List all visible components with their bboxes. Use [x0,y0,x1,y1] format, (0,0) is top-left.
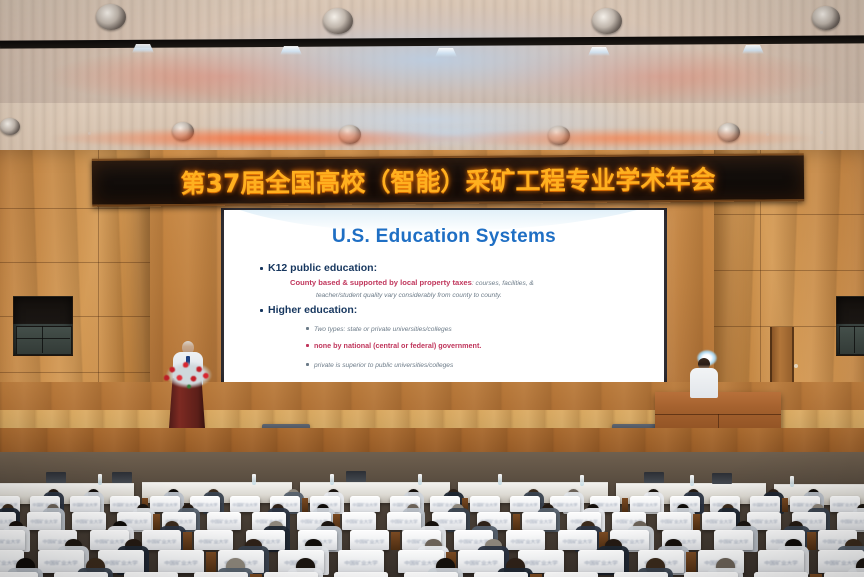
slide-bullet-level3: Two types: state or private universities… [306,323,452,334]
booth-glass [839,326,864,355]
chair-cover-text: 中国矿业大学 [150,503,180,508]
audience-chair[interactable]: 中国矿业大学 [334,572,388,577]
audience-chair[interactable]: 中国矿业大学 [54,572,108,577]
chair-cover-text: 中国矿业大学 [578,559,624,566]
slide-bullet-level2: County based & supported by local proper… [290,278,534,287]
chair-cover-text: 中国矿业大学 [72,519,106,524]
chair-cover-text: 中国矿业大学 [70,503,100,508]
seat-row-gap [686,552,696,573]
moderator-body [690,368,718,398]
chair-cover-text: 中国矿业大学 [750,503,780,508]
ceiling-panel-upper [0,0,864,103]
seat-row-gap [183,532,192,550]
audience-chair[interactable]: 中国矿业大学 [702,512,736,530]
laptop-icon [644,472,664,483]
chair-cover-text: 中国矿业大学 [510,503,540,508]
audience-chair[interactable]: 中国矿业大学 [194,572,248,577]
chair-cover-text: 中国矿业大学 [342,519,376,524]
audience-chair[interactable]: 中国矿业大学 [158,550,204,573]
audience-chair[interactable]: 中国矿业大学 [404,572,458,577]
audience-chair[interactable]: 中国矿业大学 [470,496,500,512]
audience-chair[interactable]: 中国矿业大学 [750,496,780,512]
audience-chair[interactable]: 中国矿业大学 [614,572,668,577]
water-bottle-icon [580,475,584,486]
audience-chair[interactable]: 中国矿业大学 [150,496,180,512]
audience-chair[interactable]: 中国矿业大学 [522,512,556,530]
chair-cover-text: 中国矿业大学 [207,519,241,524]
event-banner: 第37届全国高校（智能）采矿工程专业学术年会 [92,153,804,207]
ceiling-spotlight-icon [323,8,353,34]
audience-chair[interactable]: 中国矿业大学 [544,572,598,577]
bullet-dot-icon [260,309,263,312]
audience-chair[interactable]: 中国矿业大学 [264,572,318,577]
booth-mullion [854,326,855,353]
audience-chair[interactable]: 中国矿业大学 [38,550,84,573]
projection-screen: U.S. Education Systems K12 public educat… [221,208,667,386]
chair-cover-text: 中国矿业大学 [142,538,181,544]
chair-cover-text: 中国矿业大学 [350,538,389,544]
audience-chair[interactable]: 中国矿业大学 [506,530,545,550]
booth-glass [16,326,71,355]
chair-cover-text: 中国矿业大学 [758,559,804,566]
bullet-dot-icon [306,327,309,330]
seat-row-gap [693,514,700,530]
slide-bullet-level1: Higher education: [260,304,357,316]
chair-cover-text: 中国矿业大学 [714,538,753,544]
ceiling-spotlight-icon [812,6,840,30]
chair-cover-text: 中国矿业大学 [470,503,500,508]
event-banner-title: 第37届全国高校（智能）采矿工程专业学术年会 [180,160,715,200]
chair-cover-text: 中国矿业大学 [657,519,691,524]
slide-bullet-level3: none by national (central or federal) go… [306,340,481,351]
chair-cover-text: 中国矿业大学 [194,538,233,544]
ceiling-spotlight-icon [592,8,622,34]
audience-chair[interactable]: 中国矿业大学 [824,572,864,577]
slide-bullet-text: teacher/student quality vary considerabl… [316,292,502,299]
bullet-dot-icon [260,267,263,270]
laptop-icon [112,472,132,483]
wall-seam [0,262,150,263]
seat-row-gap [622,498,628,512]
chair-cover-text: 中国矿业大学 [387,519,421,524]
water-bottle-icon [790,476,794,487]
wall-seam [0,372,150,373]
slide-bullet-text: K12 public education: [268,262,377,274]
slide-title: U.S. Education Systems [224,226,664,248]
audience-chair[interactable]: 中国矿业大学 [714,530,753,550]
audience-chair[interactable]: 中国矿业大学 [558,530,597,550]
chair-cover-text: 中国矿业大学 [110,503,140,508]
bullet-dot-icon [306,344,309,347]
audience-chair[interactable]: 中国矿业大学 [578,550,624,573]
chair-cover-text: 中国矿业大学 [702,519,736,524]
chair-cover-text: 中国矿业大学 [550,503,580,508]
audience-chair[interactable]: 中国矿业大学 [350,530,389,550]
audience-area: 中国矿业大学中国矿业大学中国矿业大学中国矿业大学中国矿业大学中国矿业大学中国矿业… [0,452,864,577]
flower-arrangement [161,357,217,393]
booth-mullion [16,338,69,339]
audience-chair[interactable]: 中国矿业大学 [207,512,241,530]
chair-cover-text: 中国矿业大学 [230,503,260,508]
chair-cover-text: 中国矿业大学 [558,538,597,544]
wall-seam [0,208,150,209]
ceiling-spotlight-icon [96,4,126,30]
booth-mullion [42,326,43,353]
seat-row-gap [807,532,816,550]
audience-chair[interactable]: 中国矿业大学 [342,512,376,530]
slide-bullet-text: County based & supported by local proper… [290,278,472,287]
water-bottle-icon [498,474,502,485]
projection-booth-window-right [836,296,864,356]
water-bottle-icon [690,475,694,486]
wall-seam [714,214,864,215]
slide-bullet-level1: K12 public education: [260,262,377,274]
chair-cover-text: 中国矿业大学 [830,503,860,508]
slide-bullet-level2: teacher/student quality vary considerabl… [316,289,502,300]
audience-chair[interactable]: 中国矿业大学 [194,530,233,550]
chair-cover-text: 中国矿业大学 [38,559,84,566]
water-bottle-icon [98,474,102,485]
audience-chair[interactable]: 中国矿业大学 [230,496,260,512]
slide-bullet-text: none by national (central or federal) go… [314,341,481,350]
slide-bullet-text: Two types: state or private universities… [314,326,452,333]
audience-chair[interactable]: 中国矿业大学 [387,512,421,530]
laptop-icon [46,472,66,483]
door-knob-icon[interactable] [794,364,798,368]
slide-bullet-text: private is superior to public universiti… [314,362,453,369]
chair-cover-text: 中国矿业大学 [747,519,781,524]
water-bottle-icon [252,474,256,485]
chair-cover-text: 中国矿业大学 [90,538,129,544]
audience-chair[interactable]: 中国矿业大学 [510,496,540,512]
audience-chair[interactable]: 中国矿业大学 [70,496,100,512]
audience-chair[interactable]: 中国矿业大学 [758,550,804,573]
audience-chair[interactable]: 中国矿业大学 [338,550,384,573]
laptop-icon [712,473,732,484]
audience-chair[interactable]: 中国矿业大学 [124,572,178,577]
presentation-slide: U.S. Education Systems K12 public educat… [224,210,664,384]
chair-cover-text: 中国矿业大学 [27,519,61,524]
slide-bullet-level3: private is superior to public universiti… [306,359,453,370]
audience-chair[interactable]: 中国矿业大学 [72,512,106,530]
wall-seam [714,270,864,271]
projection-booth-window-left [13,296,73,356]
audience-chair[interactable]: 中国矿业大学 [458,550,504,573]
slide-bullet-text-tail: : courses, facilities, & [472,280,534,287]
chair-cover-text: 中国矿业大学 [338,559,384,566]
chair-cover-text: 中国矿业大学 [458,559,504,566]
seat-row-gap [513,514,520,530]
audience-chair[interactable]: 中国矿业大学 [0,530,25,550]
slide-bullet-text: Higher education: [268,304,357,316]
chair-cover-text: 中国矿业大学 [190,503,220,508]
chair-cover-text: 中国矿业大学 [158,559,204,566]
seat-row-gap [782,498,788,512]
water-bottle-icon [330,474,334,485]
audience-chair[interactable]: 中国矿业大学 [684,572,738,577]
audience-chair[interactable]: 中国矿业大学 [754,572,808,577]
audience-chair[interactable]: 中国矿业大学 [630,496,660,512]
auditorium-photo: 第37届全国高校（智能）采矿工程专业学术年会 U.S. Education Sy… [0,0,864,577]
chair-cover-text: 中国矿业大学 [350,503,380,508]
audience-chair[interactable]: 中国矿业大学 [142,530,181,550]
audience-chair[interactable]: 中国矿业大学 [837,512,864,530]
chair-cover-text: 中国矿业大学 [522,519,556,524]
audience-chair[interactable]: 中国矿业大学 [350,496,380,512]
laptop-icon [346,471,366,482]
bullet-dot-icon [306,363,309,366]
audience-chair[interactable]: 中国矿业大学 [474,572,528,577]
audience-chair[interactable]: 中国矿业大学 [657,512,691,530]
seat-row-gap [391,532,400,550]
moderator-figure [690,358,718,398]
seat-row-gap [206,552,216,573]
water-bottle-icon [418,474,422,485]
chair-cover-text: 中国矿业大学 [0,538,25,544]
audience-chair[interactable]: 中国矿业大学 [0,572,38,577]
stage-wash-lighting [0,118,864,152]
seat-row-gap [302,498,308,512]
chair-cover-text: 中国矿业大学 [630,503,660,508]
chair-cover-text: 中国矿业大学 [506,538,545,544]
audience-chair[interactable]: 中国矿业大学 [27,512,61,530]
chair-cover-text: 中国矿业大学 [837,519,864,524]
seat-row-gap [153,514,160,530]
